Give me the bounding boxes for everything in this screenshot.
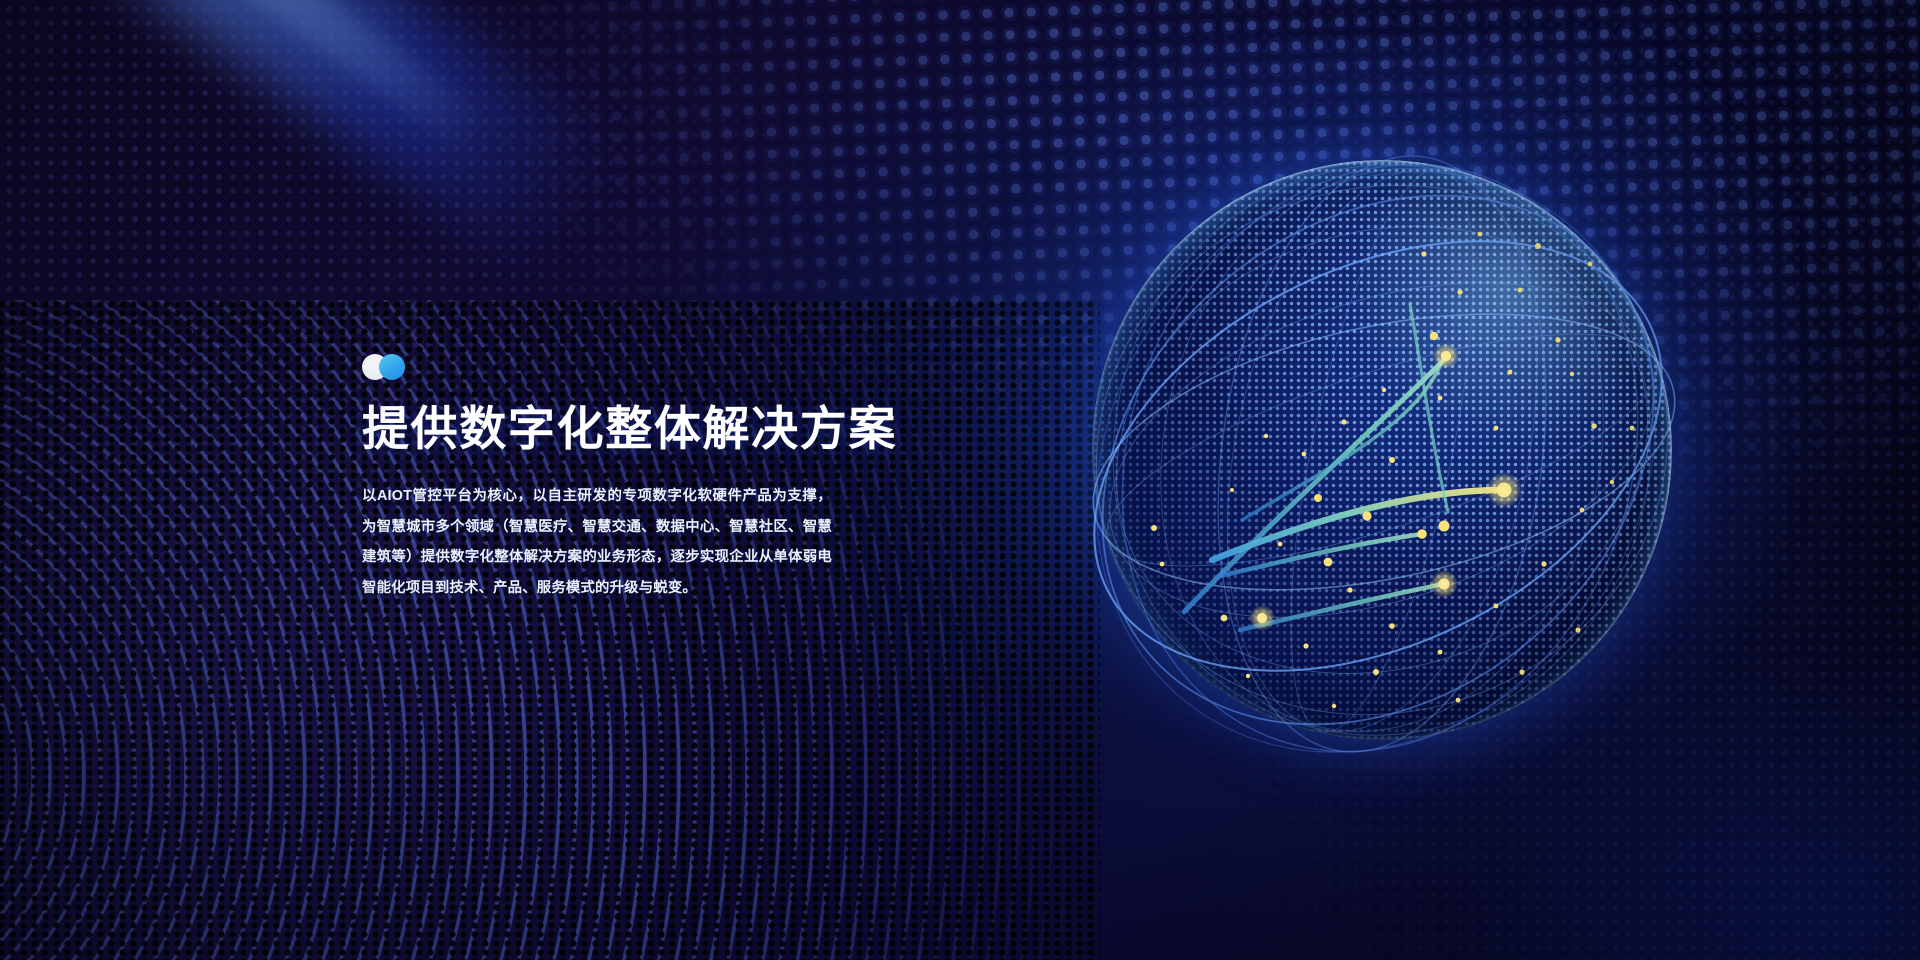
hero-banner: 提供数字化整体解决方案 以AIOT管控平台为核心，以自主研发的专项数字化软硬件产… xyxy=(0,0,1920,960)
page-title: 提供数字化整体解决方案 xyxy=(362,404,962,455)
hero-content: 提供数字化整体解决方案 以AIOT管控平台为核心，以自主研发的专项数字化软硬件产… xyxy=(362,352,962,604)
circle-blue-icon xyxy=(379,354,405,380)
brand-dual-circle-mark xyxy=(362,352,426,382)
globe-network-overlay xyxy=(1092,160,1672,740)
digital-network-globe xyxy=(1092,160,1672,740)
hero-description: 以AIOT管控平台为核心，以自主研发的专项数字化软硬件产品为支撑，为智慧城市多个… xyxy=(362,481,832,604)
